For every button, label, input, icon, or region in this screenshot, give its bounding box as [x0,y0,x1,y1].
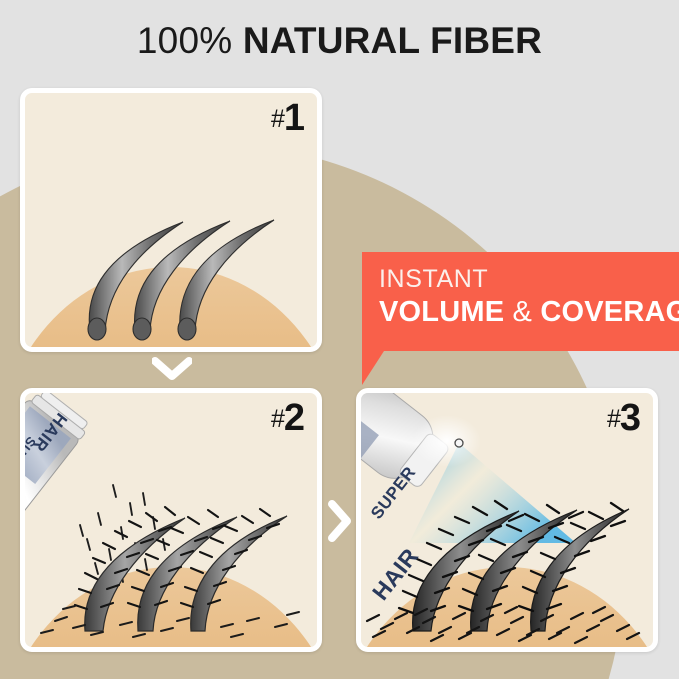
panel-step-2: SUPER MILLION HAIR #2 [20,388,322,652]
panel-step-3: SUPER HAIR #3 [356,388,658,652]
arrow-down-panel1-to-panel2 [152,357,192,383]
title-percent: 100% [137,20,232,61]
panel-number-1: #1 [271,99,305,137]
hash-symbol: # [607,405,620,433]
banner-coverage: COVERAGE [540,296,679,328]
step-number: 2 [284,397,305,439]
title-main: NATURAL FIBER [243,20,542,61]
hash-symbol: # [271,405,284,433]
panel-number-3: #3 [607,399,641,437]
panel-step-1: #1 [20,88,322,352]
step-number: 3 [620,397,641,439]
infographic-root: 100% NATURAL FIBER [0,0,679,679]
banner-line-volume-coverage: VOLUME & COVERAGE [379,296,679,329]
arrow-right-panel2-to-panel3 [327,500,353,542]
panel-number-2: #2 [271,399,305,437]
banner-tail [362,351,384,385]
promo-banner: INSTANT VOLUME & COVERAGE [362,252,679,351]
step-number: 1 [284,97,305,139]
page-title: 100% NATURAL FIBER [0,20,679,62]
banner-volume: VOLUME [379,296,504,328]
hash-symbol: # [271,105,284,133]
banner-line-instant: INSTANT [379,265,679,294]
banner-ampersand: & [513,296,533,328]
